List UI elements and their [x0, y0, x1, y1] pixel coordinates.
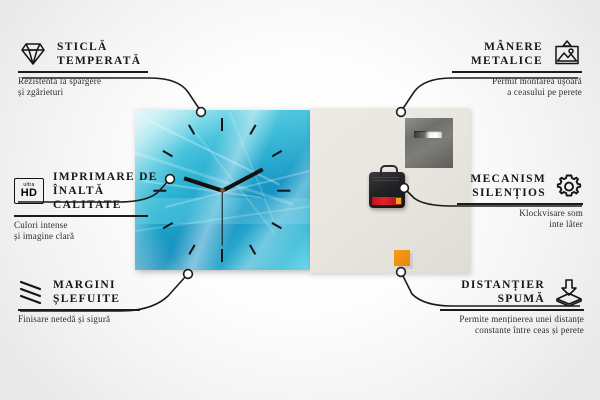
clock-tick	[249, 124, 256, 134]
clock-tick	[188, 244, 195, 254]
clock-tick	[277, 190, 290, 192]
callout-mechanism-title: MECANISM SILENȚIOS	[470, 172, 546, 200]
callout-glass-rule	[18, 71, 148, 73]
clock-second-hand	[221, 191, 222, 246]
callout-edges-title: MARGINI ȘLEFUITE	[53, 278, 120, 306]
callout-spacer-head: DISTANȚIER SPUMĂ	[440, 278, 584, 306]
clock-tick	[272, 222, 282, 229]
callout-glass: STICLĂ TEMPERATĂ Rezistentă la spargere …	[18, 40, 148, 99]
callout-edges-rule	[18, 309, 140, 311]
infographic-canvas: STICLĂ TEMPERATĂ Rezistentă la spargere …	[0, 0, 600, 400]
mechanism-hanger-loop	[380, 165, 398, 177]
mechanism-label	[373, 177, 399, 181]
callout-mechanism-head: MECANISM SILENȚIOS	[457, 172, 583, 200]
framed-picture-icon	[552, 40, 582, 68]
quartz-mechanism	[369, 172, 405, 208]
battery	[372, 197, 402, 205]
callout-handles-title: MÂNERE METALICE	[471, 40, 543, 68]
callout-edges-head: MARGINI ȘLEFUITE	[18, 278, 148, 306]
callout-handles: MÂNERE METALICE Permit montarea ușoară a…	[452, 40, 582, 99]
ultra-hd-badge-lower: HD	[21, 188, 38, 199]
callout-mechanism: MECANISM SILENȚIOS Klockvisare som inte …	[457, 172, 583, 231]
foam-spacer	[394, 250, 410, 266]
callout-handles-rule	[452, 71, 582, 73]
clock-tick	[163, 150, 173, 157]
diamond-icon	[18, 41, 48, 67]
clock-tick	[272, 150, 282, 157]
callout-edges-subtitle: Finisare netedă și sigură	[18, 314, 148, 326]
ultra-hd-badge-icon: ultra HD	[14, 178, 44, 204]
metal-hanger-detail	[405, 118, 453, 168]
callout-edges: MARGINI ȘLEFUITE Finisare netedă și sigu…	[18, 278, 148, 325]
callout-glass-subtitle: Rezistentă la spargere și zgârieturi	[18, 76, 148, 99]
arrow-down-onto-layer-icon	[554, 278, 584, 306]
callout-print-subtitle: Culori intense și imagine clară	[14, 220, 162, 243]
callout-print: ultra HD IMPRIMARE DE ÎNALTĂ CALITATE Cu…	[14, 170, 162, 243]
clock-center-hub	[220, 188, 225, 193]
callout-glass-title: STICLĂ TEMPERATĂ	[57, 40, 141, 68]
callout-spacer-subtitle: Permite menținerea unei distanțe constan…	[440, 314, 584, 337]
clock-tick	[249, 244, 256, 254]
callout-print-title: IMPRIMARE DE ÎNALTĂ CALITATE	[53, 170, 162, 212]
clock-tick	[221, 249, 223, 262]
callout-spacer-title: DISTANȚIER SPUMĂ	[461, 278, 545, 306]
callout-print-head: ultra HD IMPRIMARE DE ÎNALTĂ CALITATE	[14, 170, 162, 212]
clock-tick	[221, 118, 223, 131]
callout-handles-subtitle: Permit montarea ușoară a ceasului pe per…	[452, 76, 582, 99]
callout-spacer-rule	[440, 309, 584, 311]
callout-handles-head: MÂNERE METALICE	[452, 40, 582, 68]
battery-plus-terminal	[396, 198, 401, 204]
hanger-slot	[414, 131, 442, 138]
callout-mechanism-subtitle: Klockvisare som inte låter	[457, 208, 583, 231]
callout-glass-head: STICLĂ TEMPERATĂ	[18, 40, 148, 68]
callout-spacer: DISTANȚIER SPUMĂ Permite menținerea unei…	[440, 278, 584, 337]
diagonal-lines-icon	[18, 280, 44, 304]
callout-mechanism-rule	[457, 203, 583, 205]
callout-print-rule	[14, 215, 148, 217]
gear-icon	[555, 173, 583, 200]
